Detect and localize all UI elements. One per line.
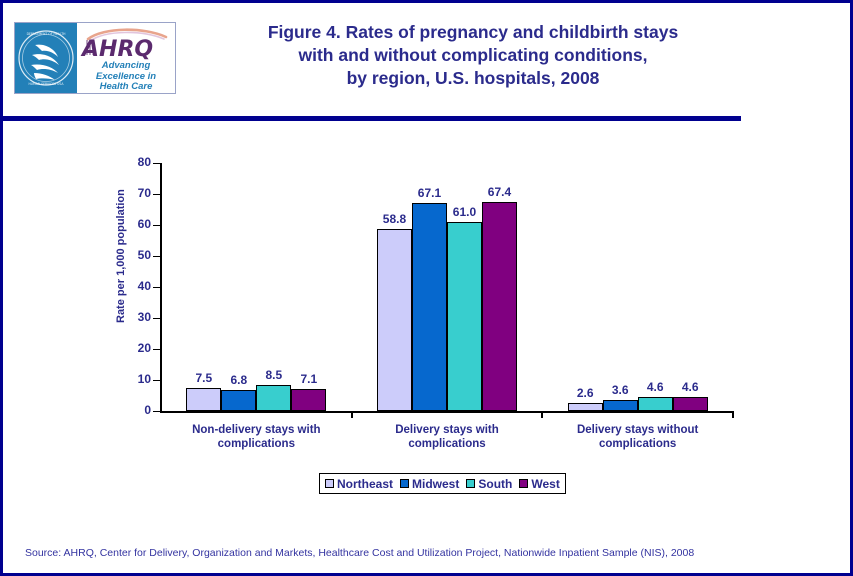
figure-title-line-3: by region, U.S. hospitals, 2008 <box>183 67 763 90</box>
legend-swatch-icon <box>519 479 528 488</box>
bar-value-label: 67.4 <box>476 185 523 199</box>
y-axis-tick-label: 50 <box>111 248 151 262</box>
source-note: Source: AHRQ, Center for Delivery, Organ… <box>25 547 694 559</box>
svg-text:AHRQ: AHRQ <box>80 37 153 60</box>
legend-swatch-icon <box>466 479 475 488</box>
figure-title-line-2: with and without complicating conditions… <box>183 44 763 67</box>
x-axis-label-line: complications <box>161 437 352 451</box>
bar-midwest <box>412 203 447 411</box>
bar-value-label: 7.1 <box>285 372 332 386</box>
x-axis-label-line: Delivery stays without <box>542 423 733 437</box>
plot-region: 7.56.88.57.158.867.161.067.42.63.64.64.6 <box>161 163 733 411</box>
bar-value-label: 58.8 <box>371 212 418 226</box>
figure-title-line-1: Figure 4. Rates of pregnancy and childbi… <box>183 21 763 44</box>
legend-item-south[interactable]: South <box>466 477 512 491</box>
svg-text:DEPARTMENT OF HEALTH: DEPARTMENT OF HEALTH <box>27 32 67 36</box>
bar-midwest <box>221 390 256 411</box>
legend-label: Midwest <box>412 477 459 491</box>
legend-label: Northeast <box>337 477 393 491</box>
bar-value-label: 4.6 <box>667 380 714 394</box>
y-axis-tick <box>153 287 160 288</box>
chart-legend: NortheastMidwestSouthWest <box>319 473 566 494</box>
bar-west <box>673 397 708 411</box>
legend-swatch-icon <box>400 479 409 488</box>
y-axis-tick <box>153 349 160 350</box>
y-axis-tick-label: 10 <box>111 372 151 386</box>
x-axis-category-label: Non-delivery stays withcomplications <box>161 423 352 451</box>
y-axis-title: Rate per 1,000 population <box>115 143 127 323</box>
y-axis-tick <box>153 318 160 319</box>
bar-west <box>482 202 517 411</box>
figure-title: Figure 4. Rates of pregnancy and childbi… <box>183 21 763 90</box>
legend-label: West <box>531 477 559 491</box>
y-axis-tick <box>153 163 160 164</box>
y-axis-tick-label: 40 <box>111 279 151 293</box>
x-axis-label-line: complications <box>542 437 733 451</box>
x-axis-separator-tick <box>351 411 353 418</box>
chart-area: Rate per 1,000 population 7.56.88.57.158… <box>3 131 850 511</box>
bar-northeast <box>186 388 221 411</box>
hhs-seal-icon: DEPARTMENT OF HEALTH HUMAN SERVICES USA <box>15 23 77 93</box>
ahrq-tagline-line-3: Health Care <box>96 82 156 93</box>
y-axis-tick-label: 20 <box>111 341 151 355</box>
bar-south <box>447 222 482 411</box>
bar-group: 2.63.64.64.6 <box>542 163 733 411</box>
legend-item-west[interactable]: West <box>519 477 559 491</box>
ahrq-tagline: Advancing Excellence in Health Care <box>96 61 156 93</box>
figure-page: DEPARTMENT OF HEALTH HUMAN SERVICES USA … <box>0 0 853 576</box>
y-axis-tick <box>153 194 160 195</box>
y-axis-tick-label: 70 <box>111 186 151 200</box>
x-axis-line <box>160 411 734 413</box>
legend-label: South <box>478 477 512 491</box>
bar-northeast <box>377 229 412 411</box>
x-axis-label-line: complications <box>352 437 543 451</box>
header-divider <box>3 116 741 121</box>
bar-south <box>256 385 291 411</box>
page-header: DEPARTMENT OF HEALTH HUMAN SERVICES USA … <box>3 3 850 107</box>
legend-swatch-icon <box>325 479 334 488</box>
bar-northeast <box>568 403 603 411</box>
svg-text:HUMAN SERVICES USA: HUMAN SERVICES USA <box>28 82 64 86</box>
x-axis-separator-tick <box>541 411 543 418</box>
x-axis-label-line: Delivery stays with <box>352 423 543 437</box>
bar-south <box>638 397 673 411</box>
y-axis-tick <box>153 411 160 412</box>
x-axis-end-tick <box>732 411 734 418</box>
ahrq-tagline-line-1: Advancing <box>96 61 156 72</box>
ahrq-logo: DEPARTMENT OF HEALTH HUMAN SERVICES USA … <box>14 22 176 94</box>
bar-group: 58.867.161.067.4 <box>352 163 543 411</box>
legend-item-northeast[interactable]: Northeast <box>325 477 393 491</box>
bar-group: 7.56.88.57.1 <box>161 163 352 411</box>
y-axis-tick <box>153 225 160 226</box>
y-axis-tick-label: 0 <box>111 403 151 417</box>
y-axis-tick-label: 30 <box>111 310 151 324</box>
bar-west <box>291 389 326 411</box>
y-axis-tick <box>153 380 160 381</box>
ahrq-wordmark-icon: AHRQ <box>78 26 174 60</box>
x-axis-label-line: Non-delivery stays with <box>161 423 352 437</box>
y-axis-tick-label: 80 <box>111 155 151 169</box>
legend-item-midwest[interactable]: Midwest <box>400 477 459 491</box>
x-axis-category-label: Delivery stays withoutcomplications <box>542 423 733 451</box>
bar-midwest <box>603 400 638 411</box>
y-axis-tick <box>153 256 160 257</box>
ahrq-wordmark-block: AHRQ Advancing Excellence in Health Care <box>77 23 175 93</box>
x-axis-category-label: Delivery stays withcomplications <box>352 423 543 451</box>
bar-value-label: 61.0 <box>441 205 488 219</box>
bar-value-label: 67.1 <box>406 186 453 200</box>
y-axis-tick-label: 60 <box>111 217 151 231</box>
